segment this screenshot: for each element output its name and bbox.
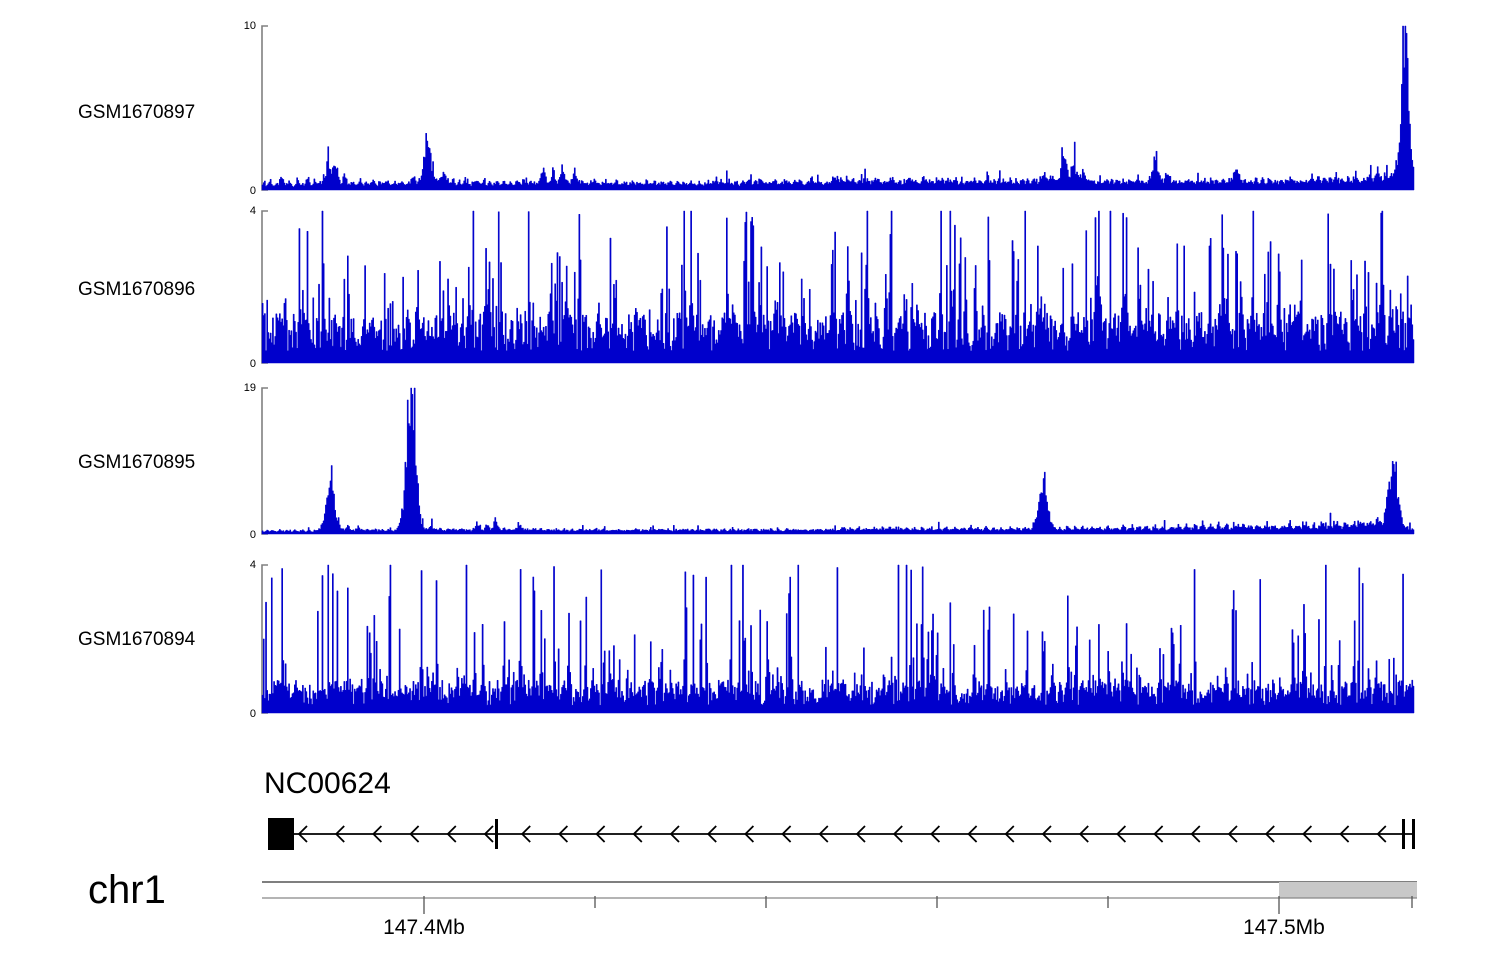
track-3-y-max: 4 (228, 559, 256, 571)
coverage-plot-2[interactable] (258, 384, 1418, 538)
track-row-0: GSM1670897 10 0 (0, 26, 1500, 194)
coverage-plot-3[interactable] (258, 561, 1418, 717)
coverage-plot-0[interactable] (258, 22, 1418, 194)
track-label-3: GSM1670894 (78, 629, 195, 651)
track-label-2: GSM1670895 (78, 452, 195, 474)
gene-name-label: NC00624 (264, 767, 391, 801)
track-2-y-min: 0 (222, 529, 256, 541)
chromosome-label: chr1 (88, 868, 166, 913)
track-3-y-min: 0 (228, 708, 256, 720)
genome-browser: GSM1670897 10 0 GSM1670896 4 0 GSM167089… (0, 0, 1500, 980)
track-1-y-max: 4 (228, 205, 256, 217)
track-row-2: GSM1670895 19 0 (0, 388, 1500, 538)
track-label-1: GSM1670896 (78, 279, 195, 301)
track-label-0: GSM1670897 (78, 102, 195, 124)
gene-model[interactable] (255, 812, 1455, 862)
coverage-plot-1[interactable] (258, 207, 1418, 367)
track-row-3: GSM1670894 4 0 (0, 565, 1500, 717)
track-0-y-min: 0 (228, 185, 256, 197)
track-2-y-max: 19 (222, 382, 256, 394)
track-1-y-min: 0 (228, 358, 256, 370)
track-row-1: GSM1670896 4 0 (0, 211, 1500, 367)
coordinate-axis[interactable] (255, 878, 1455, 918)
track-0-y-max: 10 (228, 20, 256, 32)
axis-tick-label-1: 147.5Mb (1214, 916, 1354, 940)
axis-tick-label-0: 147.4Mb (354, 916, 494, 940)
